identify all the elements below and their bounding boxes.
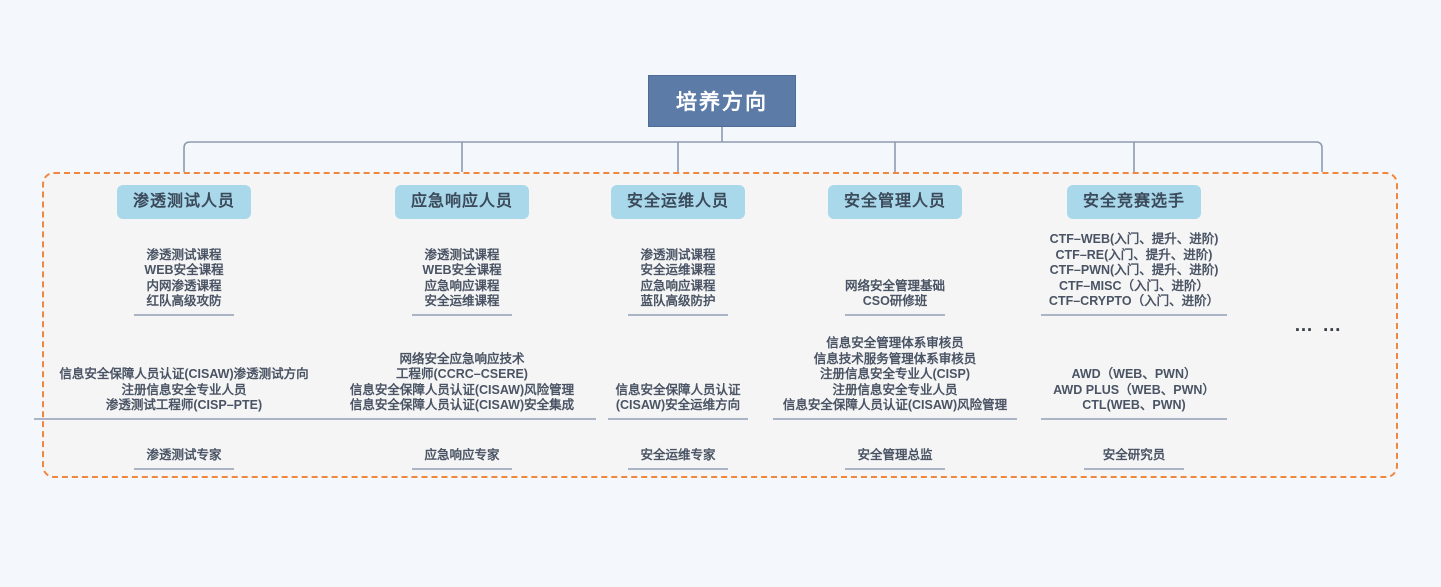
group-certifications-security-competition: AWD（WEB、PWN）AWD PLUS（WEB、PWN）CTL(WEB、PWN… [1034, 367, 1234, 420]
text-line: WEB安全课程 [34, 263, 334, 279]
group-divider [628, 468, 728, 470]
text-line: CTF–MISC（入门、进阶） [1034, 279, 1234, 295]
text-line: AWD PLUS（WEB、PWN） [1034, 383, 1234, 399]
group-outcome-penetration-testing: 渗透测试专家 [34, 448, 334, 470]
text-line: CSO研修班 [773, 294, 1017, 310]
text-line: 信息安全保障人员认证 [598, 383, 758, 399]
text-line: 内网渗透课程 [34, 279, 334, 295]
group-divider [628, 314, 728, 316]
group-divider [845, 314, 945, 316]
text-line: 应急响应课程 [598, 279, 758, 295]
text-line: CTL(WEB、PWN) [1034, 398, 1234, 414]
group-divider [845, 468, 945, 470]
group-outcome-security-management: 安全管理总监 [773, 448, 1017, 470]
group-divider [1041, 314, 1227, 316]
group-divider [608, 418, 748, 420]
text-line: 信息安全管理体系审核员 [773, 336, 1017, 352]
direction-column-security-operations: 安全运维人员渗透测试课程安全运维课程应急响应课程蓝队高级防护信息安全保障人员认证… [598, 0, 758, 587]
outcome-label: 安全管理总监 [773, 448, 1017, 464]
group-divider [1041, 418, 1227, 420]
text-line: CTF–PWN(入门、提升、进阶) [1034, 263, 1234, 279]
text-line: 安全运维课程 [328, 294, 596, 310]
group-courses-penetration-testing: 渗透测试课程WEB安全课程内网渗透课程红队高级攻防 [34, 248, 334, 316]
text-line: 渗透测试课程 [34, 248, 334, 264]
text-line: 信息安全保障人员认证(CISAW)安全集成 [328, 398, 596, 414]
group-courses-emergency-response: 渗透测试课程WEB安全课程应急响应课程安全运维课程 [328, 248, 596, 316]
group-certifications-penetration-testing: 信息安全保障人员认证(CISAW)渗透测试方向注册信息安全专业人员渗透测试工程师… [34, 367, 334, 420]
text-line: 应急响应课程 [328, 279, 596, 295]
group-divider [34, 418, 334, 420]
group-divider [412, 468, 512, 470]
group-divider [134, 468, 234, 470]
direction-column-security-management: 安全管理人员网络安全管理基础CSO研修班信息安全管理体系审核员信息技术服务管理体… [773, 0, 1017, 587]
text-line: CTF–RE(入门、提升、进阶) [1034, 248, 1234, 264]
direction-pill-penetration-testing[interactable]: 渗透测试人员 [117, 185, 251, 219]
diagram-canvas: 培养方向 渗透测试人员渗透测试课程WEB安全课程内网渗透课程红队高级攻防信息安全… [0, 0, 1441, 587]
group-divider [773, 418, 1017, 420]
text-line: 信息技术服务管理体系审核员 [773, 352, 1017, 368]
direction-pill-security-management[interactable]: 安全管理人员 [828, 185, 962, 219]
group-certifications-security-management: 信息安全管理体系审核员信息技术服务管理体系审核员注册信息安全专业人(CISP)注… [773, 336, 1017, 420]
group-courses-security-competition: CTF–WEB(入门、提升、进阶)CTF–RE(入门、提升、进阶)CTF–PWN… [1034, 232, 1234, 316]
text-line: 渗透测试课程 [328, 248, 596, 264]
text-line: 注册信息安全专业人员 [773, 383, 1017, 399]
direction-column-emergency-response: 应急响应人员渗透测试课程WEB安全课程应急响应课程安全运维课程网络安全应急响应技… [328, 0, 596, 587]
group-outcome-security-operations: 安全运维专家 [598, 448, 758, 470]
more-ellipsis: … … [1294, 315, 1343, 337]
outcome-label: 安全运维专家 [598, 448, 758, 464]
group-certifications-emergency-response: 网络安全应急响应技术工程师(CCRC–CSERE)信息安全保障人员认证(CISA… [328, 352, 596, 420]
text-line: 信息安全保障人员认证(CISAW)风险管理 [328, 383, 596, 399]
text-line: 渗透测试课程 [598, 248, 758, 264]
text-line: 蓝队高级防护 [598, 294, 758, 310]
outcome-label: 渗透测试专家 [34, 448, 334, 464]
outcome-label: 安全研究员 [1034, 448, 1234, 464]
text-line: AWD（WEB、PWN） [1034, 367, 1234, 383]
text-line: 安全运维课程 [598, 263, 758, 279]
text-line: 网络安全管理基础 [773, 279, 1017, 295]
text-line: CTF–CRYPTO（入门、进阶） [1034, 294, 1234, 310]
text-line: 信息安全保障人员认证(CISAW)风险管理 [773, 398, 1017, 414]
text-line: 渗透测试工程师(CISP–PTE) [34, 398, 334, 414]
group-divider [328, 418, 596, 420]
text-line: 网络安全应急响应技术 [328, 352, 596, 368]
group-divider [134, 314, 234, 316]
group-certifications-security-operations: 信息安全保障人员认证(CISAW)安全运维方向 [598, 383, 758, 420]
text-line: WEB安全课程 [328, 263, 596, 279]
direction-pill-security-operations[interactable]: 安全运维人员 [611, 185, 745, 219]
outcome-label: 应急响应专家 [328, 448, 596, 464]
text-line: (CISAW)安全运维方向 [598, 398, 758, 414]
group-outcome-security-competition: 安全研究员 [1034, 448, 1234, 470]
group-divider [1084, 468, 1184, 470]
group-courses-security-operations: 渗透测试课程安全运维课程应急响应课程蓝队高级防护 [598, 248, 758, 316]
text-line: 信息安全保障人员认证(CISAW)渗透测试方向 [34, 367, 334, 383]
direction-column-security-competition: 安全竞赛选手CTF–WEB(入门、提升、进阶)CTF–RE(入门、提升、进阶)C… [1034, 0, 1234, 587]
text-line: 工程师(CCRC–CSERE) [328, 367, 596, 383]
direction-pill-emergency-response[interactable]: 应急响应人员 [395, 185, 529, 219]
text-line: 红队高级攻防 [34, 294, 334, 310]
text-line: 注册信息安全专业人员 [34, 383, 334, 399]
group-divider [412, 314, 512, 316]
direction-column-penetration-testing: 渗透测试人员渗透测试课程WEB安全课程内网渗透课程红队高级攻防信息安全保障人员认… [34, 0, 334, 587]
direction-pill-security-competition[interactable]: 安全竞赛选手 [1067, 185, 1201, 219]
text-line: CTF–WEB(入门、提升、进阶) [1034, 232, 1234, 248]
text-line: 注册信息安全专业人(CISP) [773, 367, 1017, 383]
group-outcome-emergency-response: 应急响应专家 [328, 448, 596, 470]
group-courses-security-management: 网络安全管理基础CSO研修班 [773, 279, 1017, 316]
